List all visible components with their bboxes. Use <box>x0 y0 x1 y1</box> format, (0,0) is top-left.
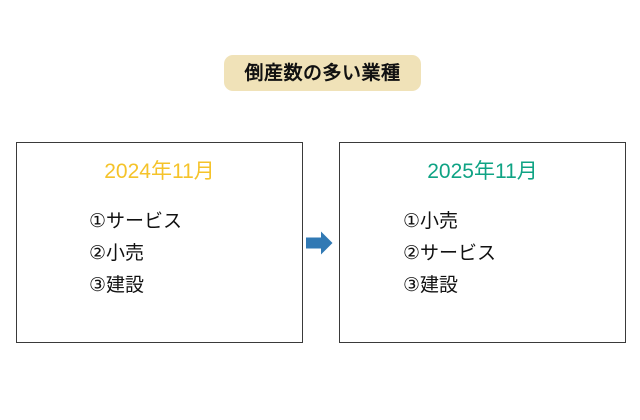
panel-after-ranking-list: ①小売 ②サービス ③建設 <box>403 206 496 302</box>
panel-before-title: 2024年11月 <box>17 161 302 182</box>
arrow-right-icon <box>306 231 333 255</box>
list-item: ③建設 <box>403 270 496 302</box>
heading-badge-label: 倒産数の多い業種 <box>244 64 400 83</box>
list-item: ②小売 <box>89 238 182 270</box>
list-item: ③建設 <box>89 270 182 302</box>
panel-after: 2025年11月 ①小売 ②サービス ③建設 <box>339 142 626 343</box>
list-item: ②サービス <box>403 238 496 270</box>
list-item: ①小売 <box>403 206 496 238</box>
list-item: ①サービス <box>89 206 182 238</box>
panel-before: 2024年11月 ①サービス ②小売 ③建設 <box>16 142 303 343</box>
panel-after-title: 2025年11月 <box>340 161 625 182</box>
panel-before-ranking-list: ①サービス ②小売 ③建設 <box>89 206 182 302</box>
heading-badge: 倒産数の多い業種 <box>224 55 421 91</box>
slide-canvas: 倒産数の多い業種 2024年11月 ①サービス ②小売 ③建設 2025年11月… <box>0 0 640 420</box>
